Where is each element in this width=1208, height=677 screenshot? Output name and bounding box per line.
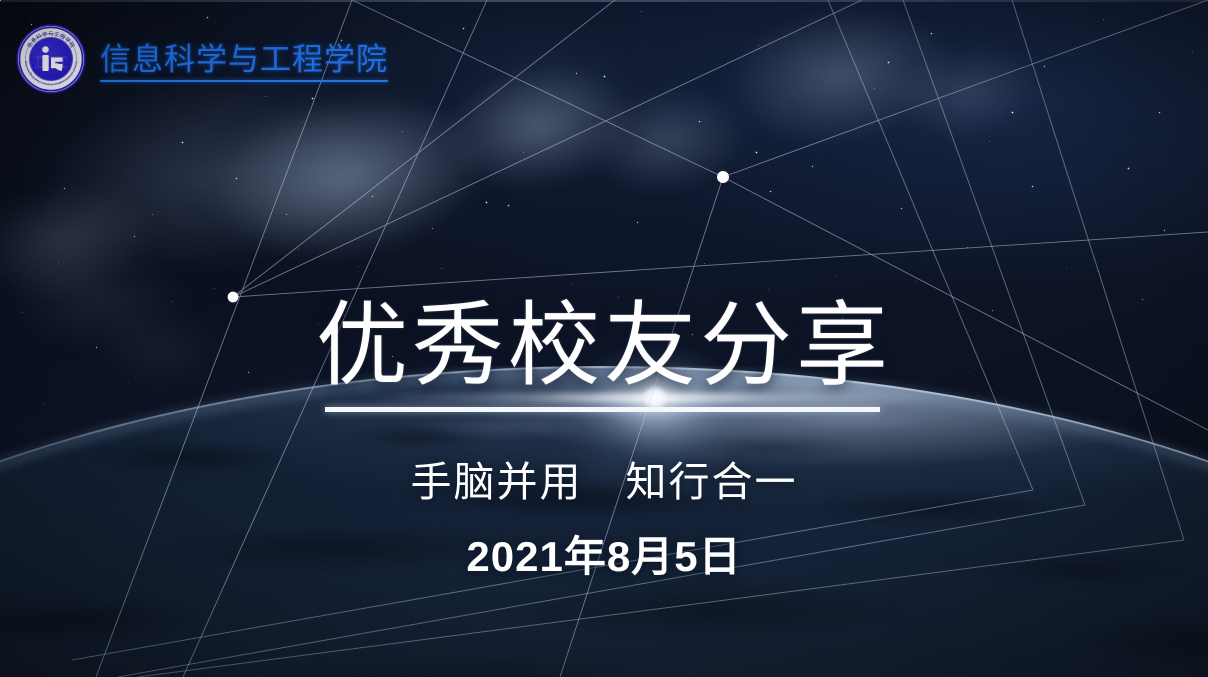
department-title-text: 信息科学与工程学院: [100, 42, 388, 77]
presentation-title-slide: 信息科学与工程学院 School of Information Science …: [0, 0, 1208, 677]
slide-date: 2021年8月5日: [0, 536, 1208, 578]
crest-inner-disc: [29, 37, 73, 81]
crest-monogram-ie: [29, 37, 73, 81]
department-title-underline: [100, 80, 388, 82]
title-divider-rule: [325, 407, 880, 412]
ie-college-crest-logo: 信息科学与工程学院 School of Information Science …: [18, 26, 84, 92]
slide-header: 信息科学与工程学院 School of Information Science …: [18, 26, 388, 92]
slide-subtitle: 手脑并用 知行合一: [0, 462, 1208, 503]
slide-main-title: 优秀校友分享: [0, 300, 1208, 392]
slide-top-border: [0, 0, 1208, 2]
department-title: 信息科学与工程学院: [100, 44, 388, 75]
